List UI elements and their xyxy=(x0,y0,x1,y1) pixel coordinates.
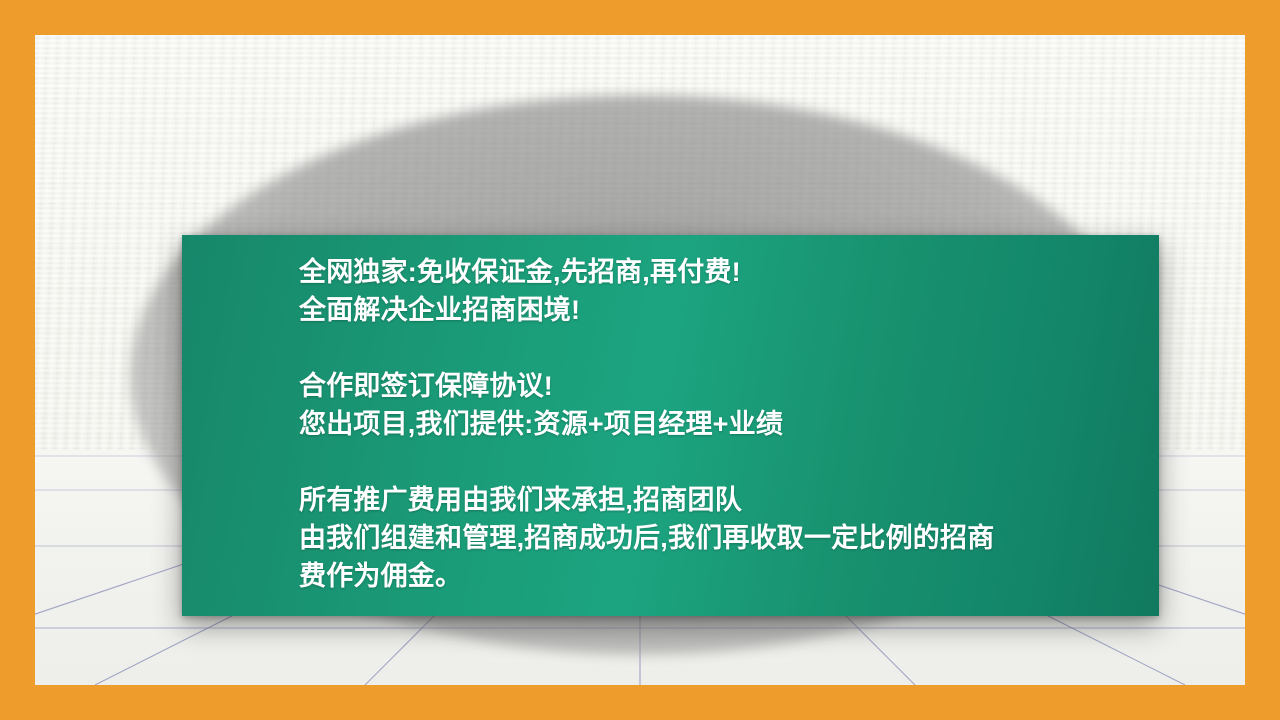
scene-viewport: 全网独家:免收保证金,先招商,再付费!全面解决企业招商困境!合作即签订保障协议!… xyxy=(35,35,1245,685)
panel-text-block: 全网独家:免收保证金,先招商,再付费!全面解决企业招商困境!合作即签订保障协议!… xyxy=(299,253,1149,595)
panel-line-3: 合作即签订保障协议! xyxy=(299,367,1149,405)
message-panel: 全网独家:免收保证金,先招商,再付费!全面解决企业招商困境!合作即签订保障协议!… xyxy=(182,235,1159,616)
panel-line-spacer-2 xyxy=(299,443,1149,481)
panel-line-1: 全网独家:免收保证金,先招商,再付费! xyxy=(299,253,1149,291)
panel-line-5: 所有推广费用由我们来承担,招商团队 xyxy=(299,481,1149,519)
panel-line-spacer-1 xyxy=(299,329,1149,367)
panel-line-4: 您出项目,我们提供:资源+项目经理+业绩 xyxy=(299,405,1149,443)
slide-canvas: 全网独家:免收保证金,先招商,再付费!全面解决企业招商困境!合作即签订保障协议!… xyxy=(0,0,1280,720)
panel-line-2: 全面解决企业招商困境! xyxy=(299,291,1149,329)
panel-line-7: 费作为佣金。 xyxy=(299,557,1149,595)
panel-line-6: 由我们组建和管理,招商成功后,我们再收取一定比例的招商 xyxy=(299,519,1149,557)
